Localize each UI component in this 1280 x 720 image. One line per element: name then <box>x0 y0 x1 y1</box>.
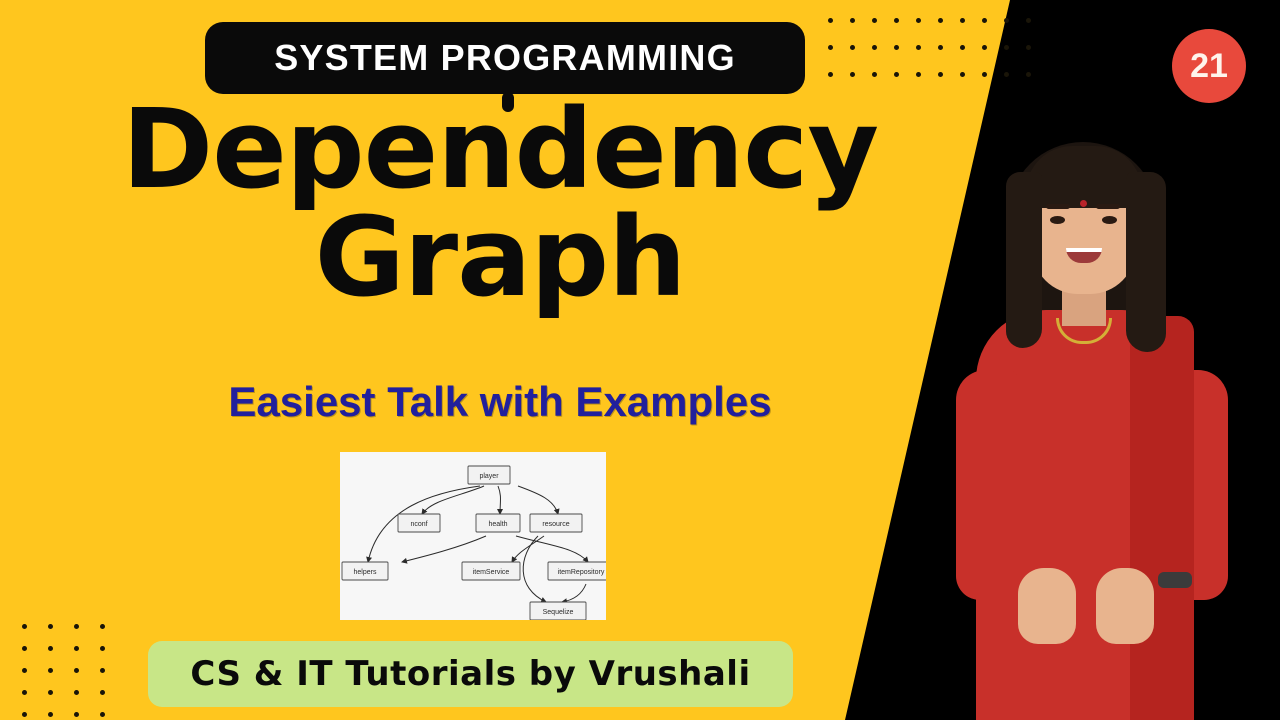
svg-text:nconf: nconf <box>410 521 427 528</box>
dependency-graph-nodes: player nconf health resource helpers <box>342 466 606 620</box>
presenter-bindi <box>1080 200 1087 207</box>
decor-dot <box>1004 45 1009 50</box>
graph-node-sequelize: Sequelize <box>530 602 586 620</box>
decor-dot <box>100 646 105 651</box>
channel-banner-label: CS & IT Tutorials by Vrushali <box>190 654 750 694</box>
presenter-hand-right-thumbs-up <box>1096 568 1154 644</box>
subtitle: Easiest Talk with Examples <box>0 378 1000 426</box>
graph-node-health: health <box>476 514 520 532</box>
decor-dot <box>916 18 921 23</box>
decor-dot <box>872 45 877 50</box>
decor-dot <box>828 18 833 23</box>
decor-dot <box>828 45 833 50</box>
decor-dot <box>48 646 53 651</box>
graph-node-player: player <box>468 466 510 484</box>
decor-dot <box>100 690 105 695</box>
decor-dot <box>74 690 79 695</box>
decor-dot <box>22 668 27 673</box>
presenter-eyebrow-left <box>1046 204 1070 209</box>
decor-dot <box>894 72 899 77</box>
graph-node-itemservice: itemService <box>462 562 520 580</box>
dependency-graph-edges <box>368 486 588 602</box>
decor-dot <box>100 712 105 717</box>
channel-banner: CS & IT Tutorials by Vrushali <box>148 641 793 707</box>
episode-number-label: 21 <box>1190 47 1228 86</box>
episode-number-badge: 21 <box>1172 29 1246 103</box>
svg-text:itemService: itemService <box>473 569 510 576</box>
decor-dot <box>74 712 79 717</box>
presenter-eye-left <box>1050 216 1065 224</box>
dependency-graph-figure: player nconf health resource helpers <box>340 452 606 620</box>
decor-dot <box>48 712 53 717</box>
presenter-arm-left <box>956 370 1018 600</box>
decor-dot <box>22 690 27 695</box>
presenter-photo <box>880 120 1280 720</box>
decor-dot <box>982 72 987 77</box>
decor-dot <box>960 18 965 23</box>
decor-dot <box>100 624 105 629</box>
decor-dot <box>828 72 833 77</box>
decor-dot <box>850 72 855 77</box>
decor-dot <box>982 45 987 50</box>
decor-dot <box>100 668 105 673</box>
decor-dot <box>960 45 965 50</box>
presenter-hair-top <box>1026 146 1142 208</box>
decor-dot <box>74 668 79 673</box>
decor-dot <box>916 72 921 77</box>
course-banner-label: SYSTEM PROGRAMMING <box>274 37 736 79</box>
video-thumbnail: SYSTEM PROGRAMMING Dependency Graph Easi… <box>0 0 1280 720</box>
svg-text:Sequelize: Sequelize <box>543 609 574 616</box>
decor-dot <box>1004 18 1009 23</box>
page-title-line-1: Dependency <box>0 96 1000 204</box>
decor-dot <box>1026 72 1031 77</box>
decor-dot <box>938 18 943 23</box>
decor-dot <box>48 690 53 695</box>
graph-node-itemrepository: itemRepository <box>548 562 606 580</box>
decor-dot <box>1004 72 1009 77</box>
dependency-graph-svg: player nconf health resource helpers <box>340 452 606 620</box>
page-title: Dependency Graph <box>0 96 1000 312</box>
decor-dot <box>48 668 53 673</box>
decor-dot <box>22 624 27 629</box>
decor-dot <box>48 624 53 629</box>
decor-dot <box>1026 18 1031 23</box>
graph-node-helpers: helpers <box>342 562 388 580</box>
decor-dot <box>894 18 899 23</box>
course-banner: SYSTEM PROGRAMMING <box>205 22 805 94</box>
presenter-eye-right <box>1102 216 1117 224</box>
decor-dot <box>850 45 855 50</box>
decor-dot <box>22 646 27 651</box>
presenter-dupatta <box>1130 316 1194 720</box>
decor-dot <box>960 72 965 77</box>
decor-dot <box>982 18 987 23</box>
decor-dot <box>938 72 943 77</box>
svg-text:resource: resource <box>542 521 569 528</box>
graph-node-nconf: nconf <box>398 514 440 532</box>
presenter-bangle <box>966 572 998 586</box>
presenter-hair-left <box>1006 172 1042 348</box>
svg-text:player: player <box>479 473 499 480</box>
svg-text:itemRepository: itemRepository <box>558 569 605 576</box>
decor-dot <box>916 45 921 50</box>
decor-dot <box>894 45 899 50</box>
decor-dot <box>938 45 943 50</box>
presenter-hair-right <box>1126 172 1166 352</box>
presenter-hand-left-thumbs-up <box>1018 568 1076 644</box>
presenter-eyebrow-right <box>1096 204 1120 209</box>
decor-dot <box>74 646 79 651</box>
decor-dot <box>1026 45 1031 50</box>
dot-grid-bottom-left <box>22 624 126 720</box>
svg-text:health: health <box>488 521 507 528</box>
page-title-line-2: Graph <box>0 204 1000 312</box>
decor-dot <box>850 18 855 23</box>
presenter-watch <box>1158 572 1192 588</box>
svg-text:helpers: helpers <box>354 569 377 576</box>
decor-dot <box>872 18 877 23</box>
decor-dot <box>22 712 27 717</box>
graph-node-resource: resource <box>530 514 582 532</box>
decor-dot <box>872 72 877 77</box>
decor-dot <box>74 624 79 629</box>
